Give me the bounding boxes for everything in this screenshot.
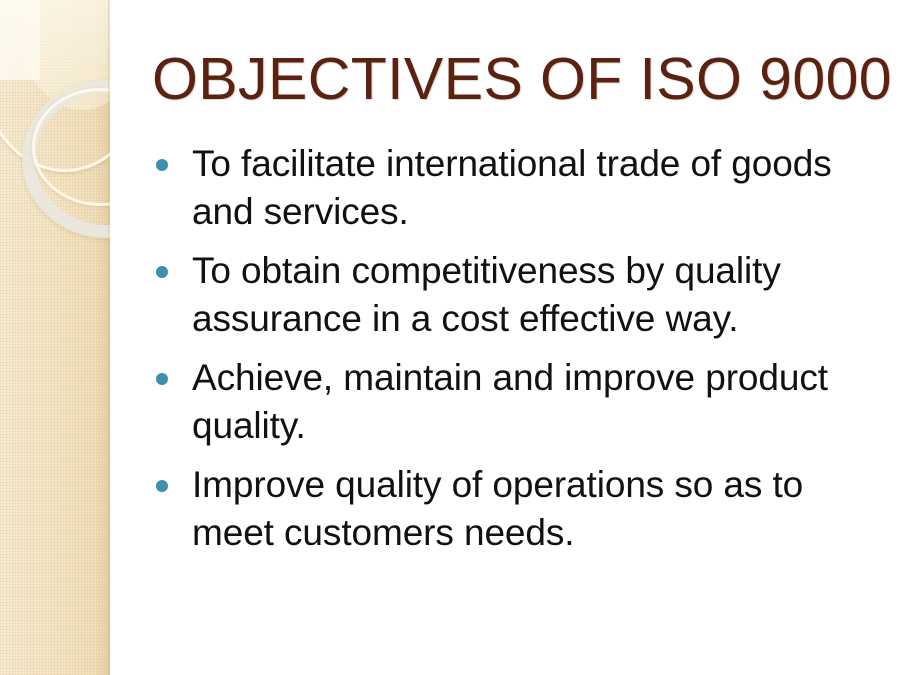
list-item: Achieve, maintain and improve product qu… [152,354,892,450]
list-item-text: To obtain competitiveness by quality ass… [192,247,892,343]
list-item: To facilitate international trade of goo… [152,140,892,236]
slide-content: OBJECTIVES OF ISO 9000 To facilitate int… [110,0,900,675]
list-item-text: To facilitate international trade of goo… [192,140,892,236]
list-item: To obtain competitiveness by quality ass… [152,247,892,343]
list-item-text: Improve quality of operations so as to m… [192,461,892,557]
decorative-sidebar [0,0,110,675]
bullet-dot-icon [156,266,168,278]
bullet-dot-icon [156,480,168,492]
bullet-dot-icon [156,159,168,171]
list-item: Improve quality of operations so as to m… [152,461,892,557]
list-item-text: Achieve, maintain and improve product qu… [192,354,892,450]
page-title: OBJECTIVES OF ISO 9000 [152,48,872,112]
bullet-dot-icon [156,373,168,385]
objectives-bullet-list: To facilitate international trade of goo… [152,140,892,568]
slide-canvas: OBJECTIVES OF ISO 9000 To facilitate int… [0,0,900,675]
